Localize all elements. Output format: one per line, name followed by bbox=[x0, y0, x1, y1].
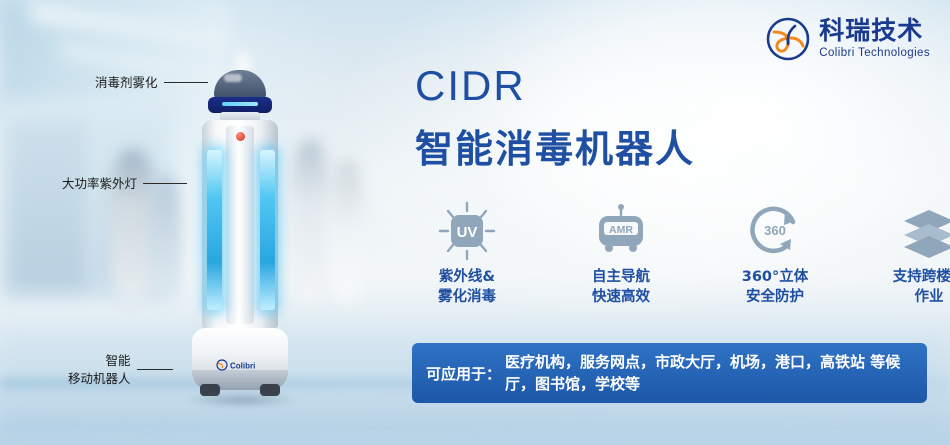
feature-360-caption: 360°立体 安全防护 bbox=[720, 268, 830, 307]
svg-text:AMR: AMR bbox=[609, 224, 633, 236]
colibri-swirl-logo-icon bbox=[765, 16, 811, 62]
feature-uv: UV 紫外线& 雾化消毒 bbox=[412, 200, 522, 307]
uv-lamp-right bbox=[260, 150, 275, 310]
title-product-name: 智能消毒机器人 bbox=[415, 118, 695, 173]
robot-head-highlight bbox=[224, 74, 242, 82]
callout-leader-line bbox=[137, 369, 173, 370]
logo-company-en: Colibri Technologies bbox=[819, 48, 930, 60]
callout-mobile-robot: 智能 移动机器人 bbox=[68, 352, 173, 387]
feature-uv-caption: 紫外线& 雾化消毒 bbox=[412, 268, 522, 307]
svg-text:360: 360 bbox=[764, 223, 786, 238]
robot-head-led bbox=[222, 102, 258, 106]
brand-logo: 科瑞技术 Colibri Technologies bbox=[765, 16, 930, 62]
svg-text:Colibri: Colibri bbox=[230, 362, 255, 371]
uv-lamp-icon: UV bbox=[412, 200, 522, 262]
svg-text:UV: UV bbox=[457, 224, 478, 241]
feature-multifloor-caption: 支持跨楼层 作业 bbox=[874, 268, 950, 307]
feature-row: UV 紫外线& 雾化消毒 AMR 自主导航 快速高效 bbox=[412, 200, 950, 307]
feature-amr: AMR 自主导航 快速高效 bbox=[566, 200, 676, 307]
callout-uv-lamp-label: 大功率紫外灯 bbox=[62, 175, 137, 193]
callout-atomizer-label: 消毒剂雾化 bbox=[95, 74, 158, 92]
feature-multifloor: 支持跨楼层 作业 bbox=[874, 200, 950, 307]
application-bar: 可应用于： 医疗机构，服务网点，市政大厅，机场，港口，高铁站 等候厅，图书馆，学… bbox=[412, 343, 927, 403]
page-title: CIDR 智能消毒机器人 bbox=[415, 62, 695, 173]
robot-floor-shadow bbox=[182, 392, 300, 408]
logo-company-cn: 科瑞技术 bbox=[819, 18, 930, 43]
amr-navigation-icon: AMR bbox=[566, 200, 676, 262]
feature-360: 360 360°立体 安全防护 bbox=[720, 200, 830, 307]
robot-power-button[interactable] bbox=[236, 132, 245, 141]
background-person bbox=[330, 160, 364, 300]
background-door bbox=[8, 120, 88, 290]
multi-floor-icon bbox=[874, 200, 950, 262]
360-rotation-icon: 360 bbox=[720, 200, 830, 262]
poster-canvas: 科瑞技术 Colibri Technologies CIDR 智能消毒机器人 bbox=[0, 0, 950, 445]
disinfection-robot: Colibri bbox=[176, 70, 306, 425]
uv-lamp-left bbox=[207, 150, 222, 310]
application-bar-text: 医疗机构，服务网点，市政大厅，机场，港口，高铁站 等候厅，图书馆，学校等 bbox=[505, 351, 913, 396]
callout-mobile-robot-label: 智能 移动机器人 bbox=[68, 352, 131, 387]
title-product-code: CIDR bbox=[415, 62, 695, 110]
callout-uv-lamp: 大功率紫外灯 bbox=[62, 175, 187, 193]
application-bar-lead: 可应用于： bbox=[426, 363, 501, 384]
robot-base-brand: Colibri bbox=[216, 358, 268, 370]
feature-amr-caption: 自主导航 快速高效 bbox=[566, 268, 676, 307]
robot-torso-center-panel bbox=[226, 126, 254, 324]
background-floor-line-2 bbox=[0, 422, 950, 427]
